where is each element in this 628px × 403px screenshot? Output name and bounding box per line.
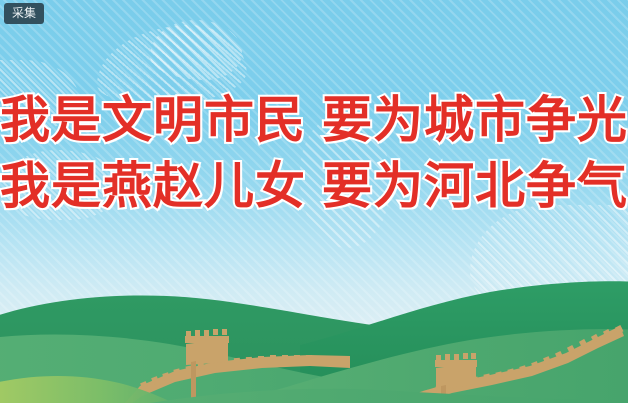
slogan-line-2: 我是燕赵儿女 要为河北争气 <box>0 161 628 211</box>
slogan-text-block: 我是文明市民 要为城市争光 我是燕赵儿女 要为河北争气 <box>0 95 628 211</box>
slogan-line-1: 我是文明市民 要为城市争光 <box>0 95 628 145</box>
slogan-line-1-right: 要为城市争光 <box>322 95 628 145</box>
slogan-line-1-left: 我是文明市民 <box>0 95 306 145</box>
slogan-line-2-right: 要为河北争气 <box>322 161 628 211</box>
banner-image: 我是文明市民 要为城市争光 我是燕赵儿女 要为河北争气 采集 <box>0 0 628 403</box>
capture-button[interactable]: 采集 <box>4 3 44 24</box>
slogan-line-2-left: 我是燕赵儿女 <box>0 161 306 211</box>
